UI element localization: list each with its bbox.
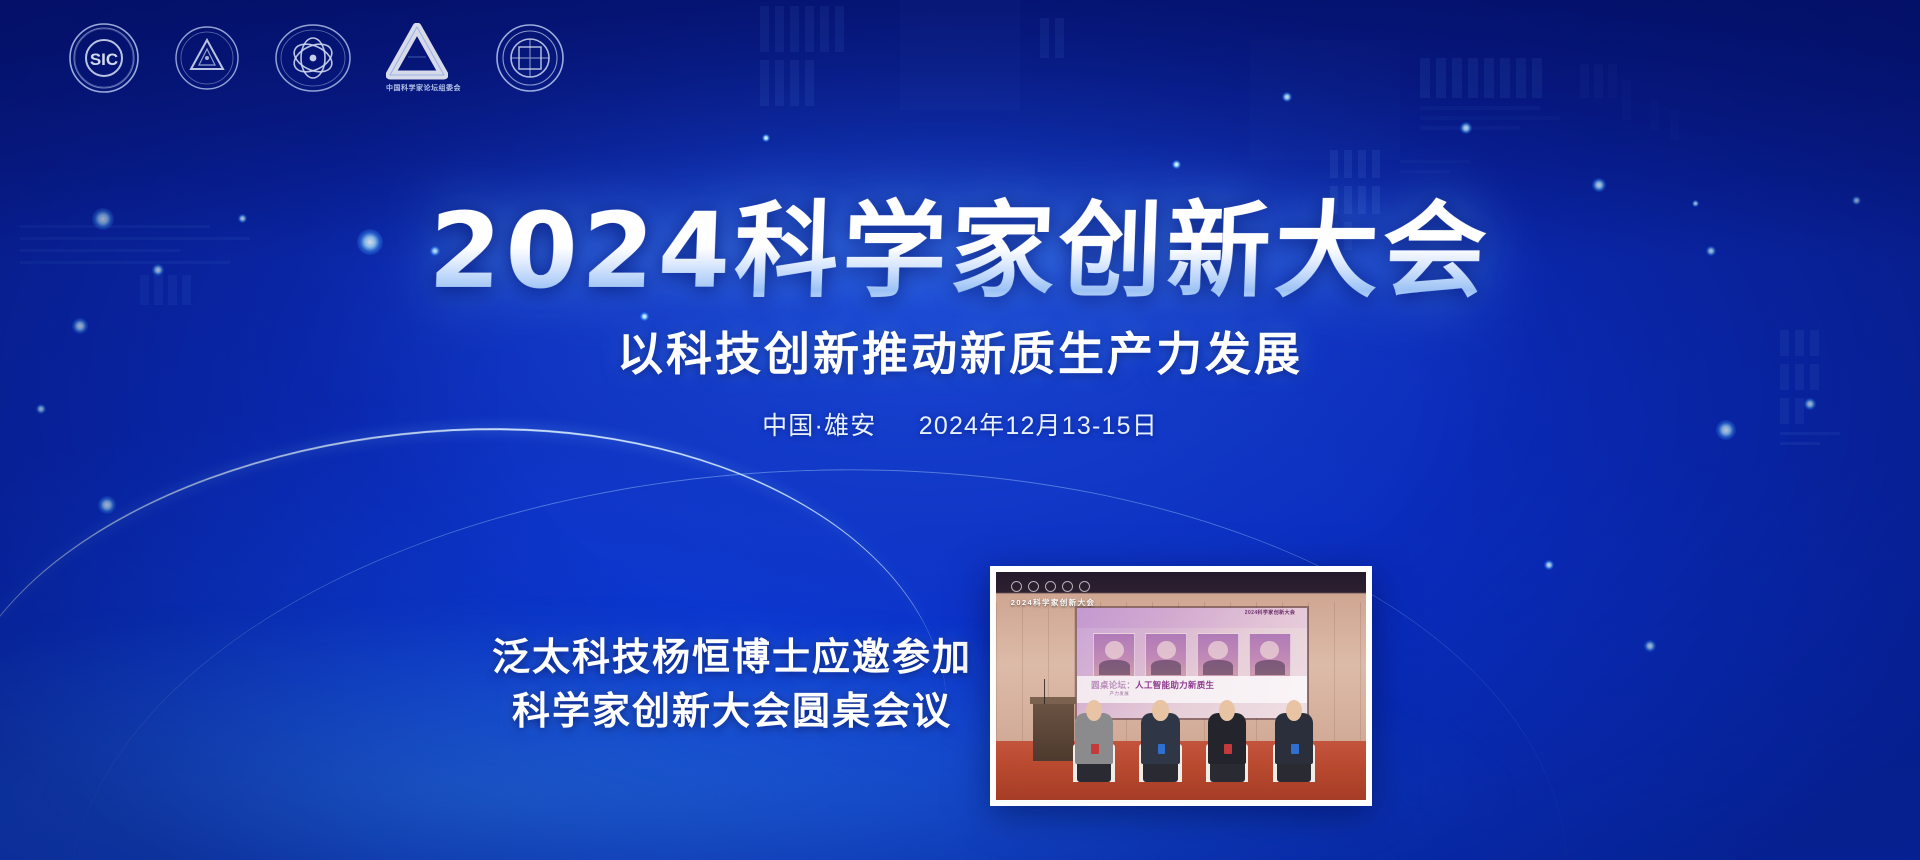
logo-circular-emblem [495, 23, 565, 93]
screen-topic-main: 人工智能助力新质生 [1135, 680, 1214, 690]
partner-logos-row: SIC [68, 22, 565, 94]
caption-line-1: 泛太科技杨恒博士应邀参加 [472, 632, 992, 686]
screen-topic-band: 圆桌论坛：人工智能助力新质生 产力发展 [1077, 676, 1306, 702]
speaker-portrait [1197, 633, 1239, 679]
photo-logo-dot [1062, 581, 1073, 592]
spark-particle [98, 496, 116, 514]
photo-brand-text: 2024科学家创新大会 [1011, 597, 1096, 608]
screen-header-band: 2024科学家创新大会 [1077, 608, 1306, 628]
photo-logo-dot [1045, 581, 1056, 592]
logo-atom-seal [274, 23, 352, 93]
panelist [1270, 700, 1318, 782]
network-mesh-grid [0, 856, 1920, 860]
photo-logo-strip [1011, 581, 1090, 592]
photo-logo-dot [1028, 581, 1039, 592]
photo-logo-dot [1079, 581, 1090, 592]
logo-triangle-seal [174, 25, 240, 91]
event-photo: 2024科学家创新大会 2024科学家创新大会 圆桌论坛：人工智能助力新质生 产… [990, 566, 1372, 806]
event-date: 2024年12月13-15日 [919, 412, 1158, 440]
event-location: 中国·雄安 [762, 412, 876, 440]
panelist [1203, 700, 1251, 782]
panelist-head [1152, 700, 1168, 721]
event-photo-image: 2024科学家创新大会 2024科学家创新大会 圆桌论坛：人工智能助力新质生 产… [996, 572, 1366, 800]
panelist-badge [1158, 744, 1166, 754]
panelist [1137, 700, 1185, 782]
event-meta: 中国·雄安 2024年12月13-15日 [0, 406, 1920, 442]
logo-penrose-triangle: 中国科学家论坛组委会 [386, 23, 461, 93]
svg-text:SIC: SIC [90, 50, 118, 69]
panelist-badge [1291, 744, 1299, 754]
spark-particle [1544, 560, 1554, 570]
photo-logo-dot [1011, 581, 1022, 592]
spark-particle [1592, 178, 1606, 192]
panelist-badge [1224, 744, 1232, 754]
screen-topic-subtitle: 产力发展 [1110, 691, 1130, 697]
announcement-caption: 泛太科技杨恒博士应邀参加 科学家创新大会圆桌会议 [472, 632, 992, 740]
spark-particle [1460, 122, 1472, 134]
headline-block: 2024科学家创新大会 以科技创新推动新质生产力发展 中国·雄安 2024年12… [0, 196, 1920, 442]
spark-particle [1282, 92, 1292, 102]
speaker-portrait [1249, 633, 1291, 679]
speaker-portrait [1145, 633, 1187, 679]
page-title: 2024科学家创新大会 [417, 196, 1502, 306]
subtitle: 以科技创新推动新质生产力发展 [0, 318, 1920, 384]
screen-header-text: 2024科学家创新大会 [1245, 609, 1296, 616]
data-blocks-center-top [760, 0, 1120, 150]
panelist-head [1286, 700, 1302, 721]
logo-sic-seal: SIC [68, 22, 140, 94]
panelist [1070, 700, 1118, 782]
caption-line-2: 科学家创新大会圆桌会议 [472, 686, 992, 740]
screen-topic-prefix: 圆桌论坛： [1091, 680, 1135, 690]
spark-particle [1644, 640, 1656, 652]
microphone-stand [1044, 679, 1045, 704]
screen-portrait-row [1093, 633, 1290, 679]
panelist-badge [1091, 744, 1099, 754]
screen-topic-text: 圆桌论坛：人工智能助力新质生 [1091, 679, 1214, 691]
conference-banner: SIC [0, 0, 1920, 860]
logo-penrose-caption: 中国科学家论坛组委会 [386, 83, 461, 93]
podium [1033, 702, 1074, 761]
spark-particle [1172, 160, 1181, 169]
speaker-portrait [1093, 633, 1135, 679]
spark-particle [762, 134, 770, 142]
